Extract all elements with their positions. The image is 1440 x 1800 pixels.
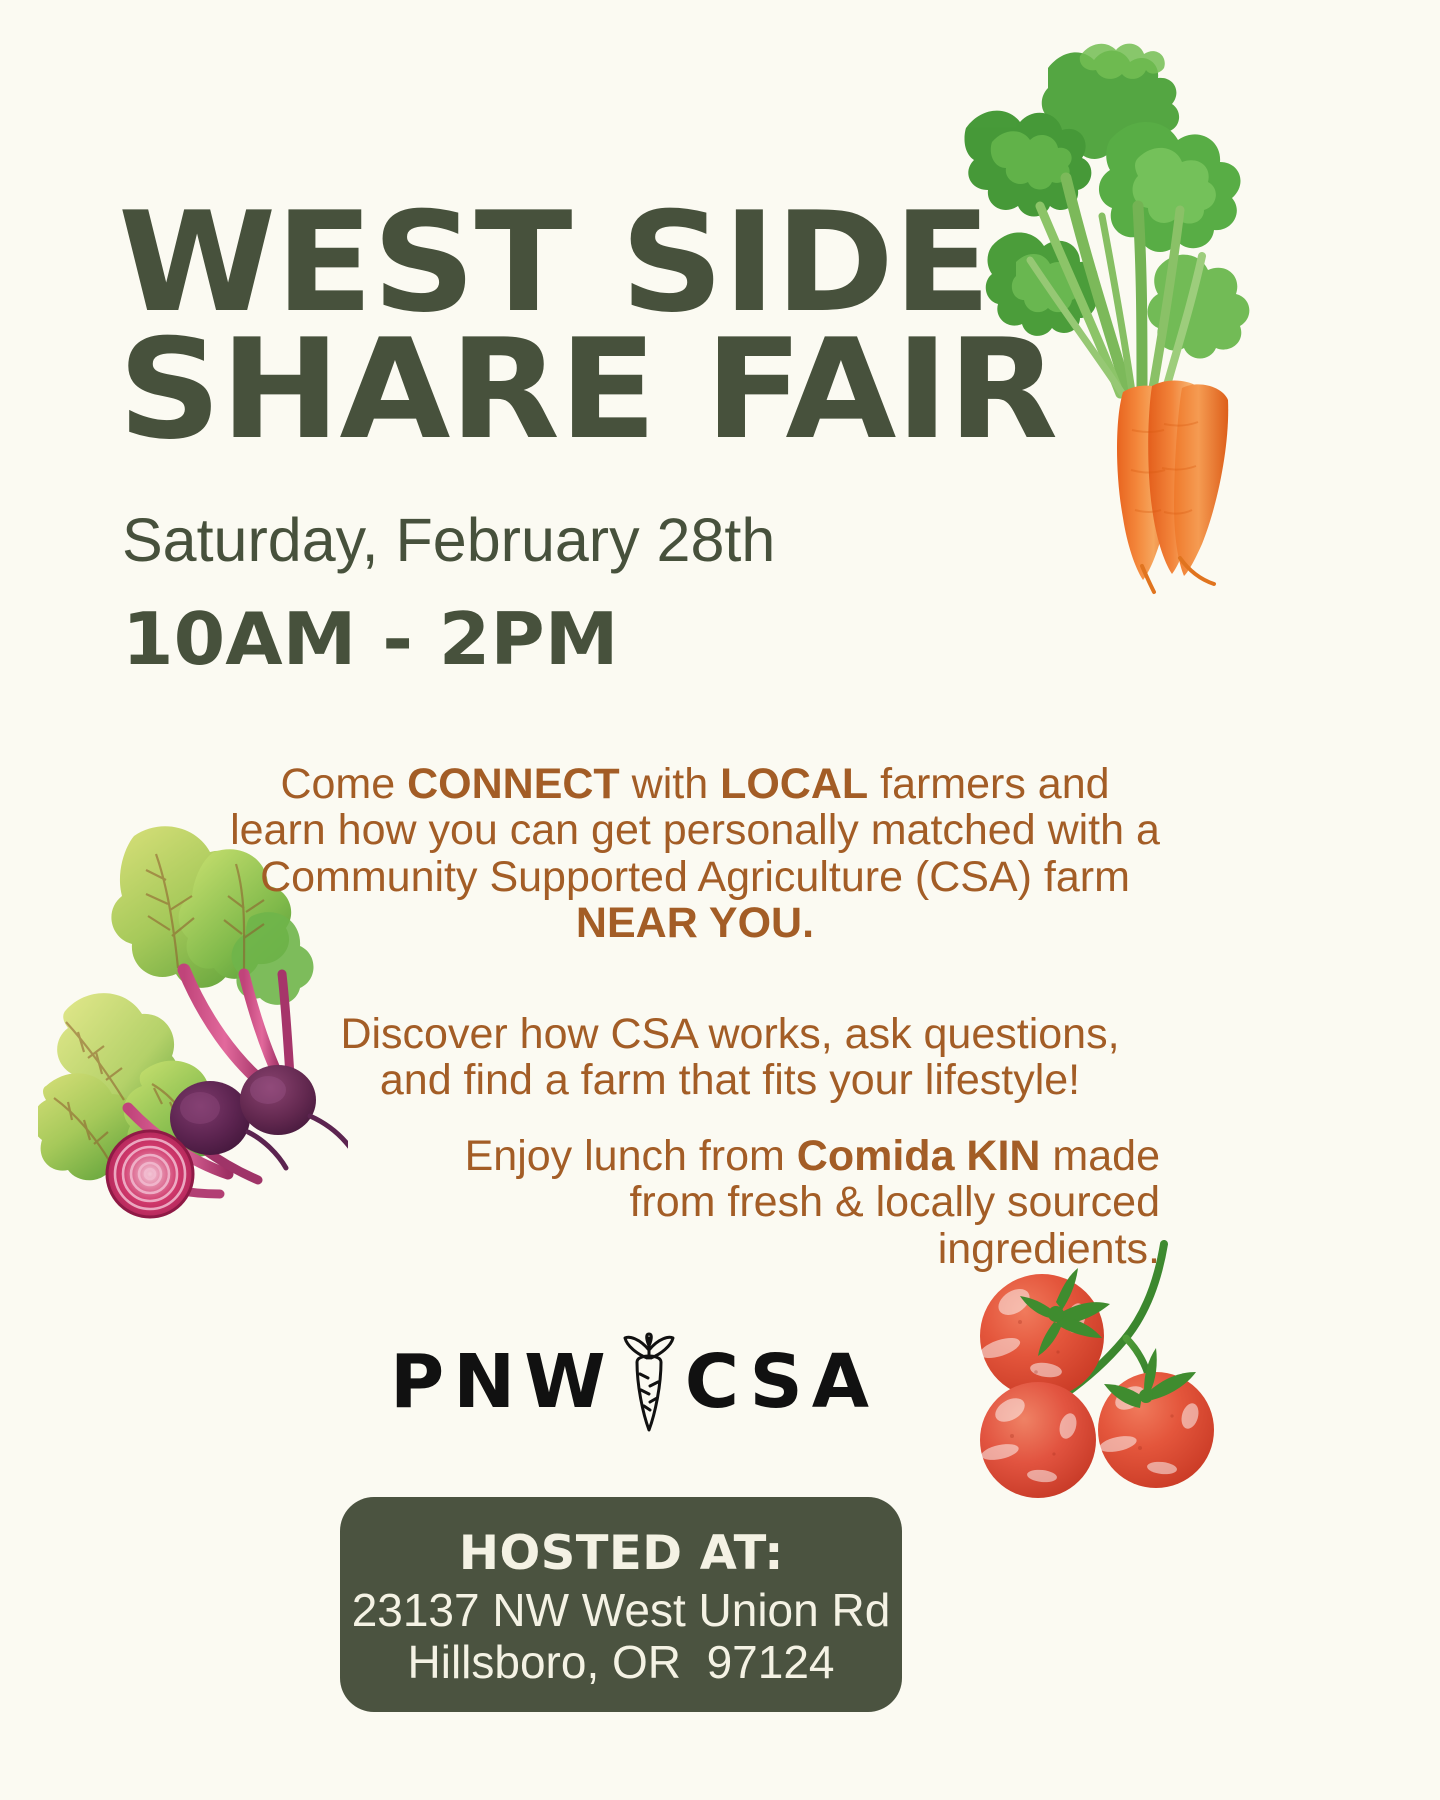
address-line-2: Hillsboro, OR 97124	[408, 1637, 835, 1689]
headline-line-1: WEST SIDE	[118, 200, 1158, 327]
pnw-csa-logo: PNW CSA	[390, 1330, 878, 1434]
lunch-bold-comida-kin: Comida KIN	[797, 1132, 1041, 1180]
hosted-at-card: HOSTED AT: 23137 NW West Union Rd Hillsb…	[340, 1497, 902, 1712]
connect-bold-connect: CONNECT	[407, 760, 620, 808]
connect-bold-local: LOCAL	[720, 760, 868, 808]
logo-word-pnw: PNW	[390, 1345, 615, 1419]
paragraph-discover: Discover how CSA works, ask questions, a…	[300, 1011, 1160, 1104]
carrot-icon	[617, 1332, 681, 1436]
hosted-at-label: HOSTED AT:	[458, 1526, 783, 1581]
page-title: WEST SIDE SHARE FAIR	[118, 200, 1158, 454]
lunch-text-1: Enjoy lunch from	[465, 1132, 797, 1180]
connect-bold-near-you: NEAR YOU.	[576, 899, 814, 947]
logo-word-csa: CSA	[685, 1345, 878, 1419]
tomato-cluster-illustration	[950, 1240, 1240, 1505]
connect-text-2: with	[620, 760, 720, 808]
paragraph-lunch: Enjoy lunch from Comida KIN made from fr…	[420, 1133, 1160, 1272]
connect-text-1: Come	[280, 760, 407, 808]
paragraph-connect: Come CONNECT with LOCAL farmers and lear…	[230, 761, 1160, 947]
event-date: Saturday, February 28th	[122, 505, 775, 575]
event-time: 10AM - 2PM	[122, 597, 619, 681]
poster-canvas: WEST SIDE SHARE FAIR Saturday, February …	[0, 0, 1440, 1800]
address-line-1: 23137 NW West Union Rd	[352, 1585, 891, 1637]
headline-line-2: SHARE FAIR	[118, 327, 1158, 454]
